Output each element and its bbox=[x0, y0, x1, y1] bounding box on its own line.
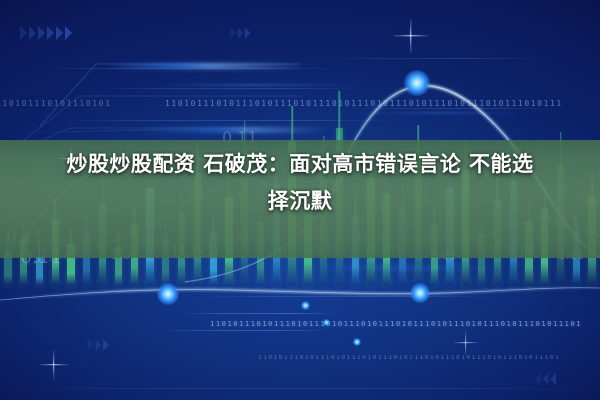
banner-image: 1101011101011101011101011101011101011101… bbox=[0, 0, 600, 400]
headline-line-1: 炒股炒股配资 石破茂：面对高市错误言论 不能选 bbox=[8, 146, 592, 183]
headline-line-2: 择沉默 bbox=[8, 183, 592, 220]
headline: 炒股炒股配资 石破茂：面对高市错误言论 不能选 择沉默 bbox=[0, 146, 600, 220]
